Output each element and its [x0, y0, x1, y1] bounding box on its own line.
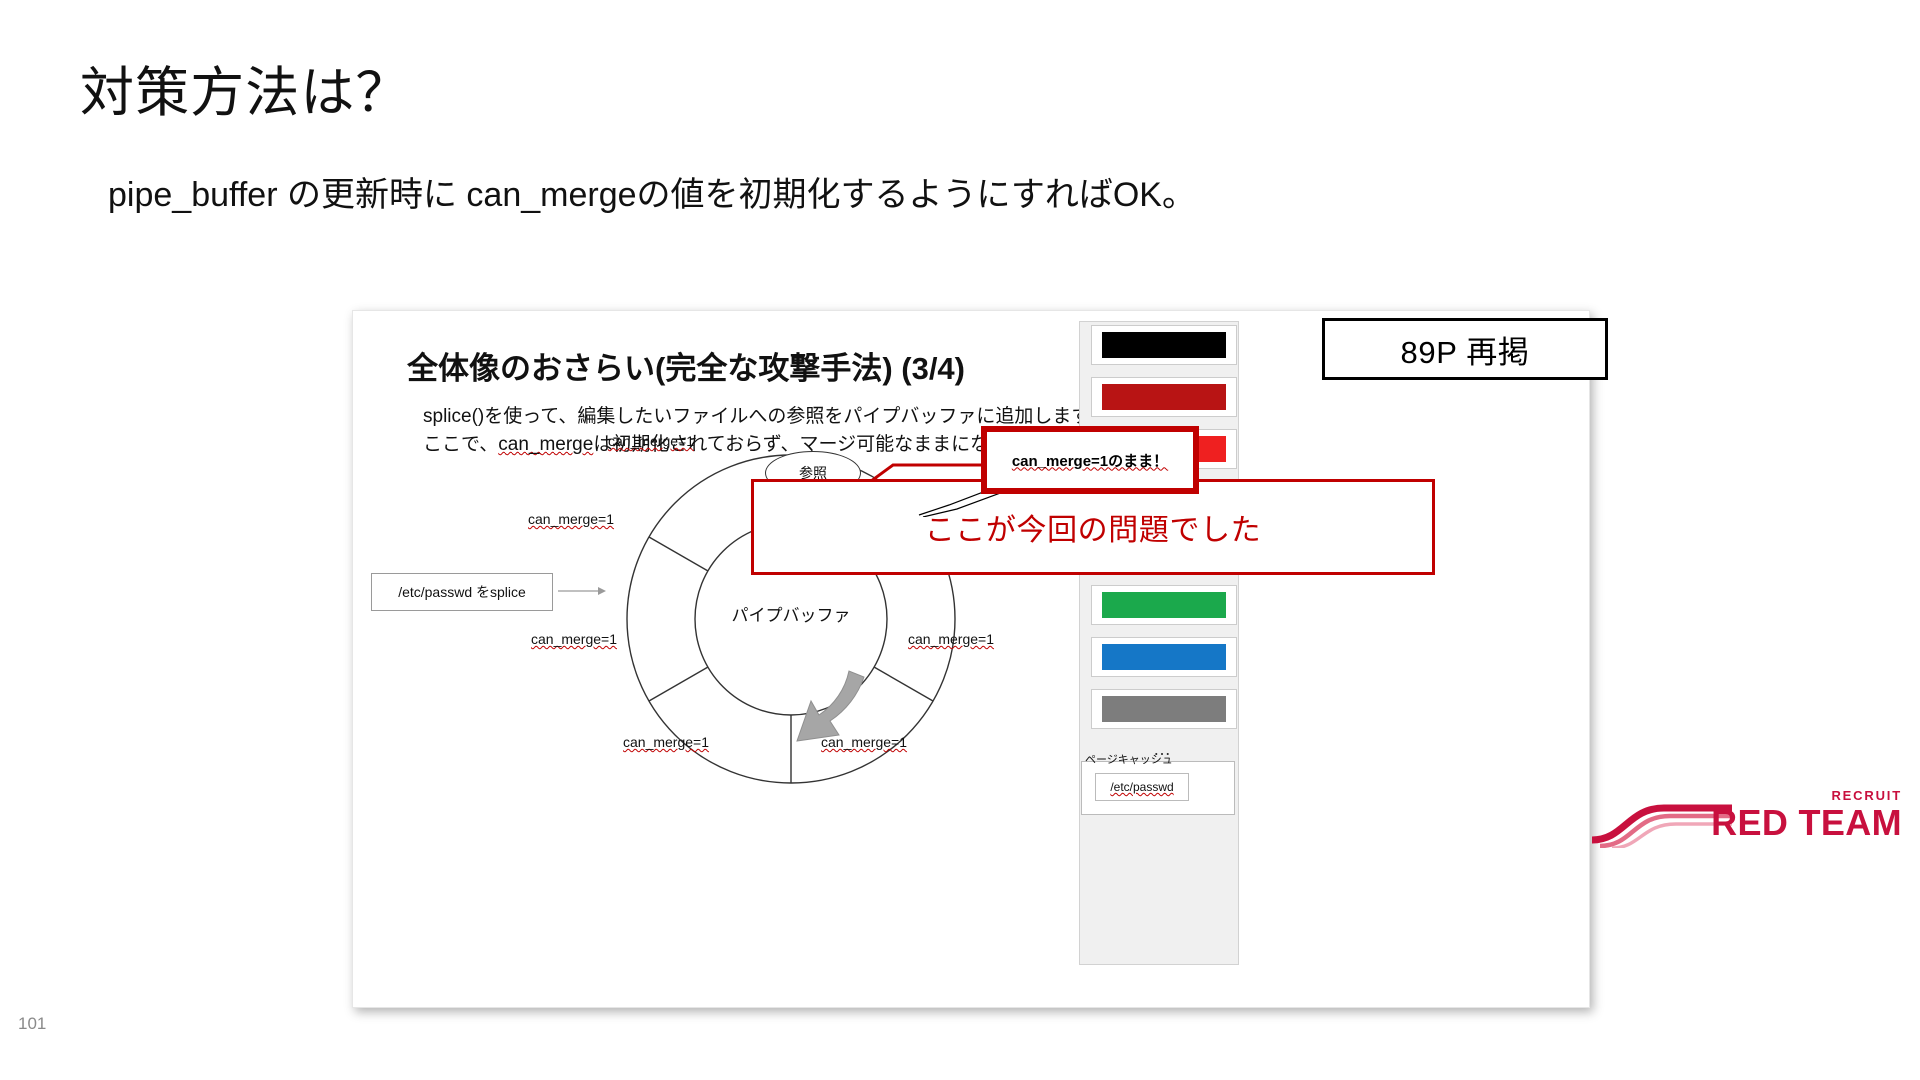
swatch-row: [1091, 585, 1237, 625]
can-merge-label: can_merge=1: [531, 631, 617, 647]
can-merge-label: can_merge=1: [821, 734, 907, 750]
callout-can-merge-stays: can_merge=1のまま！: [981, 426, 1199, 494]
page-title: 対策方法は？: [80, 62, 410, 124]
embedded-slide-screenshot: 全体像のおさらい(完全な攻撃手法) (3/4) splice()を使って、編集し…: [352, 310, 1590, 1008]
swatch-row: [1091, 689, 1237, 729]
can-merge-label: can_merge=1: [528, 511, 614, 527]
embedded-body-line-1: splice()を使って、編集したいファイルへの参照をパイプバッファに追加します…: [423, 401, 1107, 428]
logo-kicker: RECRUIT: [1831, 788, 1902, 803]
logo-wordmark: RED TEAM: [1711, 802, 1902, 844]
rotation-arrow: [797, 671, 864, 741]
page-number: 101: [18, 1014, 46, 1034]
swatch-row: [1091, 377, 1237, 417]
body-line-2-prefix: ここで、: [423, 434, 498, 455]
swatch-row: [1091, 325, 1237, 365]
can-merge-label: can_merge=1: [608, 433, 694, 449]
pipe-buffer-center-label: パイプバッファ: [621, 601, 961, 626]
swatch-chip-blue: [1102, 644, 1226, 670]
splice-source-box: /etc/passwd をsplice: [371, 573, 553, 611]
embedded-slide-title: 全体像のおさらい(完全な攻撃手法) (3/4): [407, 343, 965, 388]
body-line-2-underlined-term: can_merge: [498, 434, 593, 455]
reprint-badge: 89P 再掲: [1322, 318, 1608, 380]
swatch-row: [1091, 637, 1237, 677]
swatch-chip-gray: [1102, 696, 1226, 722]
page-cache-file-entry: /etc/passwd: [1095, 773, 1189, 801]
can-merge-label: can_merge=1: [623, 734, 709, 750]
splice-arrow-icon: [558, 585, 608, 597]
red-team-logo: RECRUIT RED TEAM: [1726, 788, 1902, 848]
page-cache-caption: ページキャッシュ: [1085, 751, 1173, 767]
swatch-chip-black: [1102, 332, 1226, 358]
can-merge-label: can_merge=1: [908, 631, 994, 647]
page-subtitle: pipe_buffer の更新時に can_mergeの値を初期化するようにすれ…: [108, 175, 1196, 216]
presentation-slide: 対策方法は？ pipe_buffer の更新時に can_mergeの値を初期化…: [0, 0, 1920, 1080]
swatch-chip-dark-red: [1102, 384, 1226, 410]
swatch-chip-green: [1102, 592, 1226, 618]
